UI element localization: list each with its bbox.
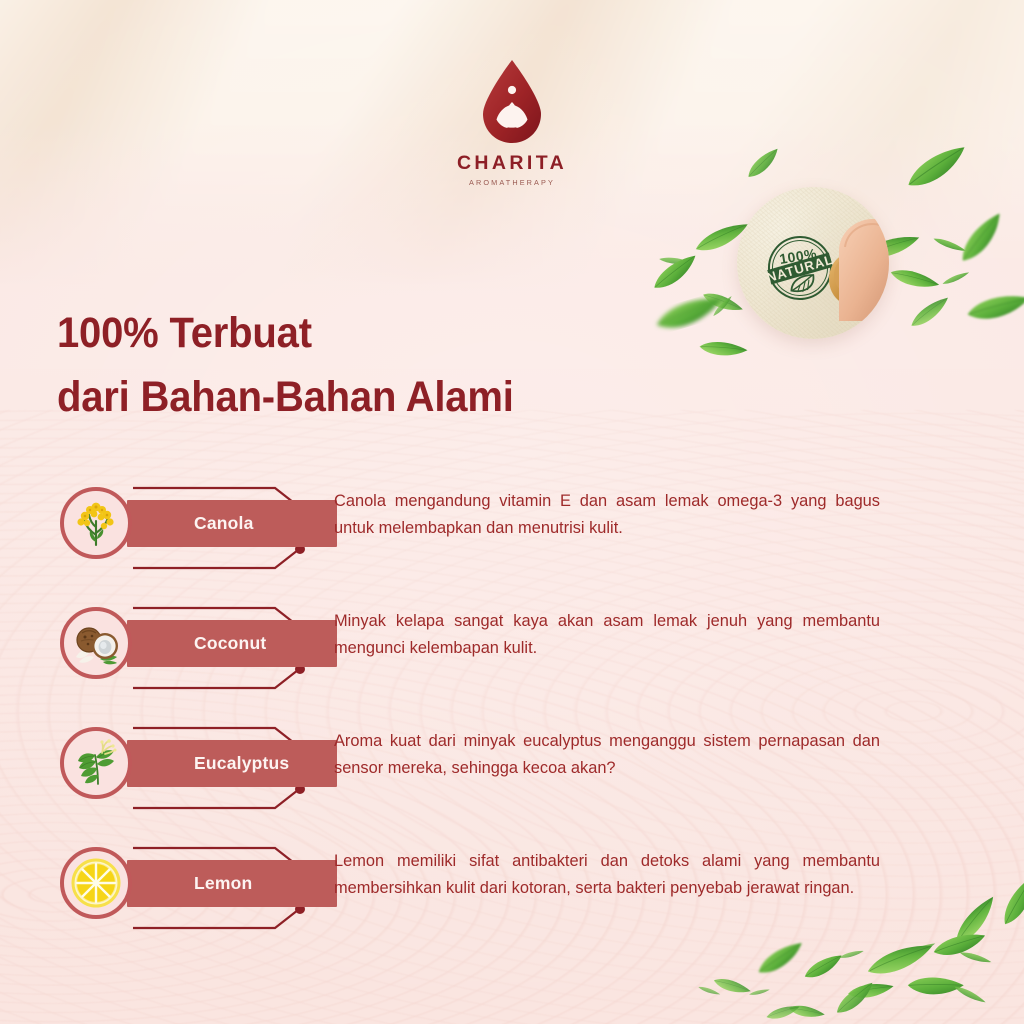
lemon-slice-icon: [60, 847, 132, 919]
ingredient-list: Canola: [0, 474, 1024, 954]
ingredient-badge[interactable]: Eucalyptus: [57, 714, 312, 822]
ingredient-label: Coconut: [194, 633, 266, 654]
ingredient-badge[interactable]: Canola: [57, 474, 312, 582]
ingredient-label-bar: Lemon: [127, 860, 337, 907]
ingredient-description: Lemon memiliki sifat antibakteri dan det…: [334, 848, 880, 901]
ingredient-label: Canola: [194, 513, 254, 534]
ingredient-label: Lemon: [194, 873, 252, 894]
hand-with-stamp-icon: [821, 217, 889, 321]
page-title: 100% Terbuat dari Bahan-Bahan Alami: [57, 301, 652, 429]
natural-stamp-photo: 100% NATURAL: [737, 187, 889, 339]
headline-line-1: 100% Terbuat: [57, 301, 652, 365]
ingredient-label-bar: Canola: [127, 500, 337, 547]
ingredient-row-lemon: Lemon: [0, 834, 1024, 954]
ingredient-description: Canola mengandung vitamin E dan asam lem…: [334, 488, 880, 541]
ingredient-row-coconut: Coconut: [0, 594, 1024, 714]
ingredient-label-bar: Eucalyptus: [127, 740, 337, 787]
brand-name: CHARITA: [0, 152, 1024, 175]
canola-flower-icon: [60, 487, 132, 559]
brand-tagline: AROMATHERAPY: [0, 178, 1024, 187]
headline-line-2: dari Bahan-Bahan Alami: [57, 365, 652, 429]
ingredient-badge[interactable]: Coconut: [57, 594, 312, 702]
poster-canvas: CHARITA AROMATHERAPY: [0, 0, 1024, 1024]
teardrop-lotus-icon: [478, 58, 546, 146]
ingredient-label: Eucalyptus: [194, 753, 289, 774]
ingredient-label-bar: Coconut: [127, 620, 337, 667]
ingredient-badge[interactable]: Lemon: [57, 834, 312, 942]
brand-logo: CHARITA AROMATHERAPY: [0, 58, 1024, 187]
ingredient-row-canola: Canola: [0, 474, 1024, 594]
eucalyptus-leaf-icon: [60, 727, 132, 799]
ingredient-description: Minyak kelapa sangat kaya akan asam lema…: [334, 608, 880, 661]
ingredient-row-eucalyptus: Eucalyptus: [0, 714, 1024, 834]
coconut-icon: [60, 607, 132, 679]
ingredient-description: Aroma kuat dari minyak eucalyptus mengan…: [334, 728, 880, 781]
